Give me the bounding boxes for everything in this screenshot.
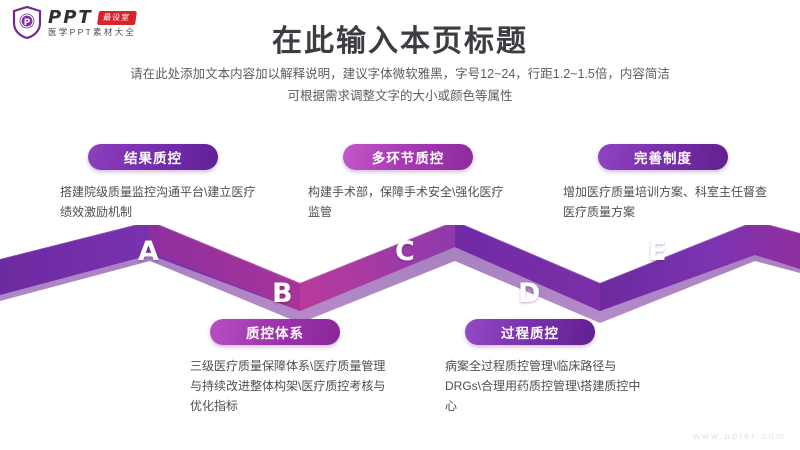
ribbon-letter-e: E — [648, 238, 666, 265]
slide-canvas: P PPT 最设室 医学PPT素材大全 在此输入本页标题 请在此处添加文本内容加… — [0, 0, 800, 450]
ribbon-letter-a: A — [138, 238, 159, 265]
step-text-e: 增加医疗质量培训方案、科室主任督查医疗质量方案 — [563, 183, 768, 223]
subtitle-line-1: 请在此处添加文本内容加以解释说明，建议字体微软雅黑，字号12~24，行距1.2~… — [0, 64, 800, 86]
step-text-d: 病案全过程质控管理\临床路径与DRGs\合理用药质控管理\搭建质控中心 — [445, 357, 650, 416]
step-text-c: 构建手术部，保障手术安全\强化医疗监管 — [308, 183, 508, 223]
step-text-a: 搭建院级质量监控沟通平台\建立医疗绩效激励机制 — [60, 183, 260, 223]
ribbon-letter-c: C — [395, 238, 415, 265]
step-pill-e[interactable]: 完善制度 — [598, 144, 728, 170]
step-pill-b[interactable]: 质控体系 — [210, 319, 340, 345]
page-subtitle: 请在此处添加文本内容加以解释说明，建议字体微软雅黑，字号12~24，行距1.2~… — [0, 64, 800, 108]
step-text-b: 三级医疗质量保障体系\医疗质量管理与持续改进整体构架\医疗质控考核与优化指标 — [190, 357, 395, 416]
footer-watermark: www.ppter.com — [693, 431, 786, 442]
step-pill-c[interactable]: 多环节质控 — [343, 144, 473, 170]
step-pill-d[interactable]: 过程质控 — [465, 319, 595, 345]
ribbon-letter-d: D — [518, 280, 540, 307]
step-pill-a[interactable]: 结果质控 — [88, 144, 218, 170]
subtitle-line-2: 可根据需求调整文字的大小或颜色等属性 — [0, 86, 800, 108]
ribbon-letter-b: B — [272, 280, 293, 307]
page-title: 在此输入本页标题 — [0, 16, 800, 60]
